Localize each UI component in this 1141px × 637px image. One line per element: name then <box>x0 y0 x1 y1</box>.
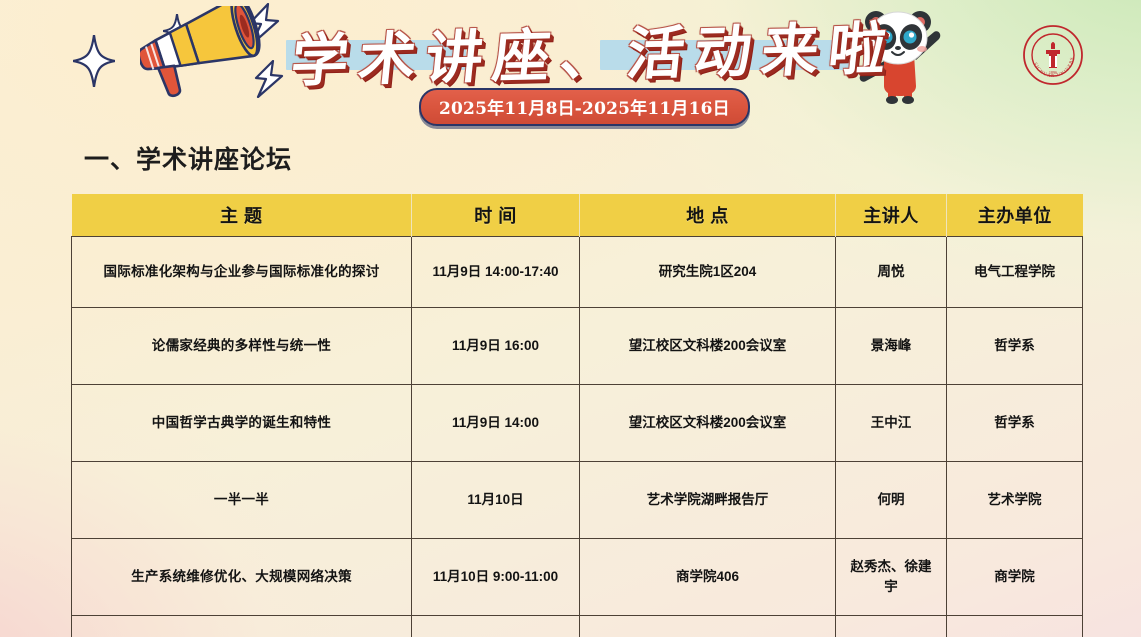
poster-page: 1896 SICHUAN UNIVERSITY 学术讲座、活动来啦 2025年1… <box>0 0 1141 637</box>
column-header-org: 主办单位 <box>947 194 1083 237</box>
section-heading: 一、学术讲座论坛 <box>84 140 292 176</box>
cell-topic: 论儒家经典的多样性与统一性 <box>72 308 412 385</box>
table-row: 生产系统维修优化、大规模网络决策 11月10日 9:00-11:00 商学院40… <box>72 539 1083 616</box>
university-logo: 1896 SICHUAN UNIVERSITY <box>1022 24 1084 91</box>
table-row: 国际标准化架构与企业参与国际标准化的探讨 11月9日 14:00-17:40 研… <box>72 237 1083 308</box>
cell-org: 商学院 <box>947 616 1083 637</box>
table-row: 论儒家经典的多样性与统一性 11月9日 16:00 望江校区文科楼200会议室 … <box>72 308 1083 385</box>
table-header-row: 主 题 时 间 地 点 主讲人 主办单位 <box>72 194 1083 237</box>
column-header-place: 地 点 <box>580 194 836 237</box>
cell-time: 11月10日 10:00 <box>412 616 580 637</box>
schedule-table-body: 国际标准化架构与企业参与国际标准化的探讨 11月9日 14:00-17:40 研… <box>72 237 1083 637</box>
cell-speaker: 景海峰 <box>836 308 947 385</box>
table-row: 不确定情况下的灵活巴士系统：城市交通中的战略规划与协同模式整合 11月10日 1… <box>72 616 1083 637</box>
cell-speaker: 王中江 <box>836 385 947 462</box>
cell-time: 11月10日 9:00-11:00 <box>412 539 580 616</box>
cell-place: 商学院406 <box>580 539 836 616</box>
table-row: 中国哲学古典学的诞生和特性 11月9日 14:00 望江校区文科楼200会议室 … <box>72 385 1083 462</box>
cell-speaker: 赵秀杰、徐建宇 <box>836 539 947 616</box>
cell-topic: 不确定情况下的灵活巴士系统：城市交通中的战略规划与协同模式整合 <box>72 616 412 637</box>
cell-place: 研究生院1区204 <box>580 237 836 308</box>
cell-org: 哲学系 <box>947 385 1083 462</box>
cell-speaker: 李以诺 <box>836 616 947 637</box>
date-range-badge: 2025年11月8日-2025年11月16日 <box>419 88 750 126</box>
cell-org: 哲学系 <box>947 308 1083 385</box>
cell-topic: 国际标准化架构与企业参与国际标准化的探讨 <box>72 237 412 308</box>
schedule-table: 主 题 时 间 地 点 主讲人 主办单位 国际标准化架构与企业参与国际标准化的探… <box>71 194 1083 637</box>
cell-time: 11月9日 14:00 <box>412 385 580 462</box>
cell-place: 望江校区文科楼200会议室 <box>580 308 836 385</box>
cell-org: 艺术学院 <box>947 462 1083 539</box>
cell-time: 11月9日 16:00 <box>412 308 580 385</box>
cell-org: 商学院 <box>947 539 1083 616</box>
cell-topic: 一半一半 <box>72 462 412 539</box>
cell-time: 11月10日 <box>412 462 580 539</box>
cell-place: 商学院106室 <box>580 616 836 637</box>
cell-topic: 生产系统维修优化、大规模网络决策 <box>72 539 412 616</box>
cell-place: 艺术学院湖畔报告厅 <box>580 462 836 539</box>
table-row: 一半一半 11月10日 艺术学院湖畔报告厅 何明 艺术学院 <box>72 462 1083 539</box>
column-header-speaker: 主讲人 <box>836 194 947 237</box>
cell-topic: 中国哲学古典学的诞生和特性 <box>72 385 412 462</box>
cell-place: 望江校区文科楼200会议室 <box>580 385 836 462</box>
column-header-time: 时 间 <box>412 194 580 237</box>
cell-speaker: 何明 <box>836 462 947 539</box>
column-header-topic: 主 题 <box>72 194 412 237</box>
cell-time: 11月9日 14:00-17:40 <box>412 237 580 308</box>
sparkle-icon <box>73 35 115 87</box>
cell-org: 电气工程学院 <box>947 237 1083 308</box>
megaphone-icon <box>140 6 270 119</box>
cell-speaker: 周悦 <box>836 237 947 308</box>
schedule-table-wrap: 主 题 时 间 地 点 主讲人 主办单位 国际标准化架构与企业参与国际标准化的探… <box>71 194 1082 637</box>
